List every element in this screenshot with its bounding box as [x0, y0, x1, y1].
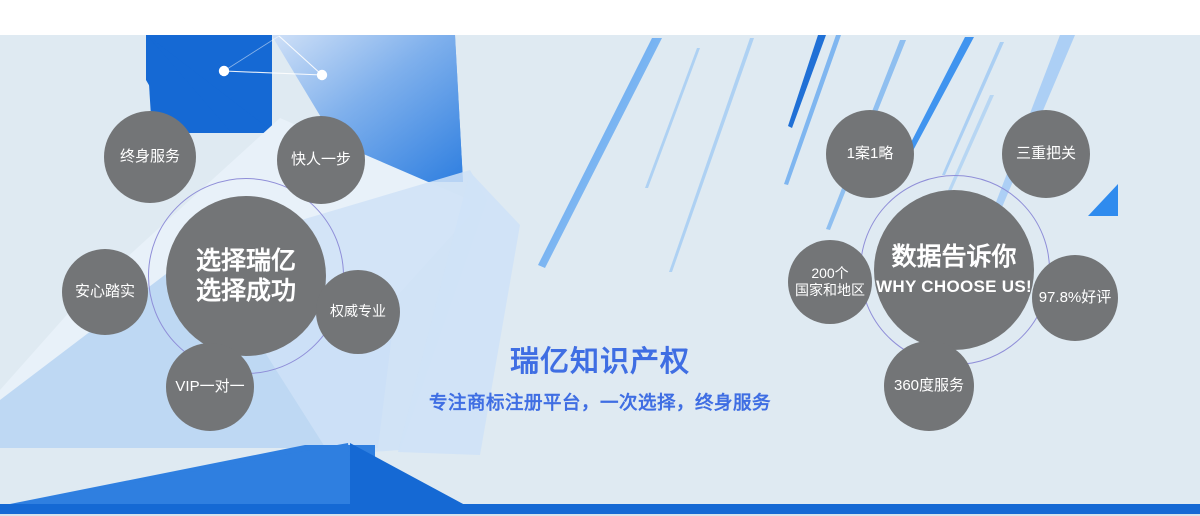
promo-banner: 选择瑞亿 选择成功 终身服务 快人一步 安心踏实 权威专业 VIP一对一 数据告… [0, 0, 1200, 516]
left-bubble-one-step-ahead[interactable]: 快人一步 [277, 116, 365, 204]
left-center-bubble[interactable]: 选择瑞亿 选择成功 [166, 196, 326, 356]
bottom-blue-bar [0, 504, 1200, 514]
right-bubble-satisfaction-rate[interactable]: 97.8%好评 [1032, 255, 1118, 341]
page-title: 瑞亿知识产权 [400, 338, 800, 380]
node-dot-right [317, 70, 327, 80]
left-bubble-label: 终身服务 [120, 148, 180, 166]
hero-text-block: 瑞亿知识产权 专注商标注册平台，一次选择，终身服务 [400, 338, 800, 415]
left-bubble-label: 安心踏实 [75, 283, 135, 301]
left-center-line1: 选择瑞亿 [196, 246, 296, 277]
left-bubble-label: 快人一步 [291, 151, 351, 169]
left-bubble-label: VIP一对一 [175, 378, 244, 396]
right-bubble-countries[interactable]: 200个 国家和地区 [788, 240, 872, 324]
left-bubble-authoritative[interactable]: 权威专业 [316, 270, 400, 354]
left-bubble-vip-one-to-one[interactable]: VIP一对一 [166, 343, 254, 431]
right-bubble-triple-check[interactable]: 三重把关 [1002, 110, 1090, 198]
right-bubble-360-service[interactable]: 360度服务 [884, 341, 974, 431]
node-dot-left [219, 66, 229, 76]
right-bubble-one-case-one-strategy[interactable]: 1案1略 [826, 110, 914, 198]
right-bubble-label-line2: 国家和地区 [795, 282, 865, 299]
left-bubble-lifetime-service[interactable]: 终身服务 [104, 111, 196, 203]
right-bubble-label: 97.8%好评 [1039, 289, 1112, 307]
page-subtitle: 专注商标注册平台，一次选择，终身服务 [400, 389, 800, 415]
left-bubble-label: 权威专业 [330, 303, 386, 320]
left-bubble-peace-of-mind[interactable]: 安心踏实 [62, 249, 148, 335]
right-bubble-label-line1: 200个 [811, 265, 848, 282]
top-white-band [0, 0, 1200, 35]
right-center-bubble[interactable]: 数据告诉你 WHY CHOOSE US! [874, 190, 1034, 350]
left-center-line2: 选择成功 [196, 276, 296, 307]
right-bubble-label: 360度服务 [894, 377, 964, 395]
right-center-line2: WHY CHOOSE US! [876, 277, 1032, 298]
right-center-line1: 数据告诉你 [891, 242, 1016, 273]
right-bubble-label: 三重把关 [1016, 145, 1076, 163]
right-bubble-label: 1案1略 [847, 145, 894, 163]
